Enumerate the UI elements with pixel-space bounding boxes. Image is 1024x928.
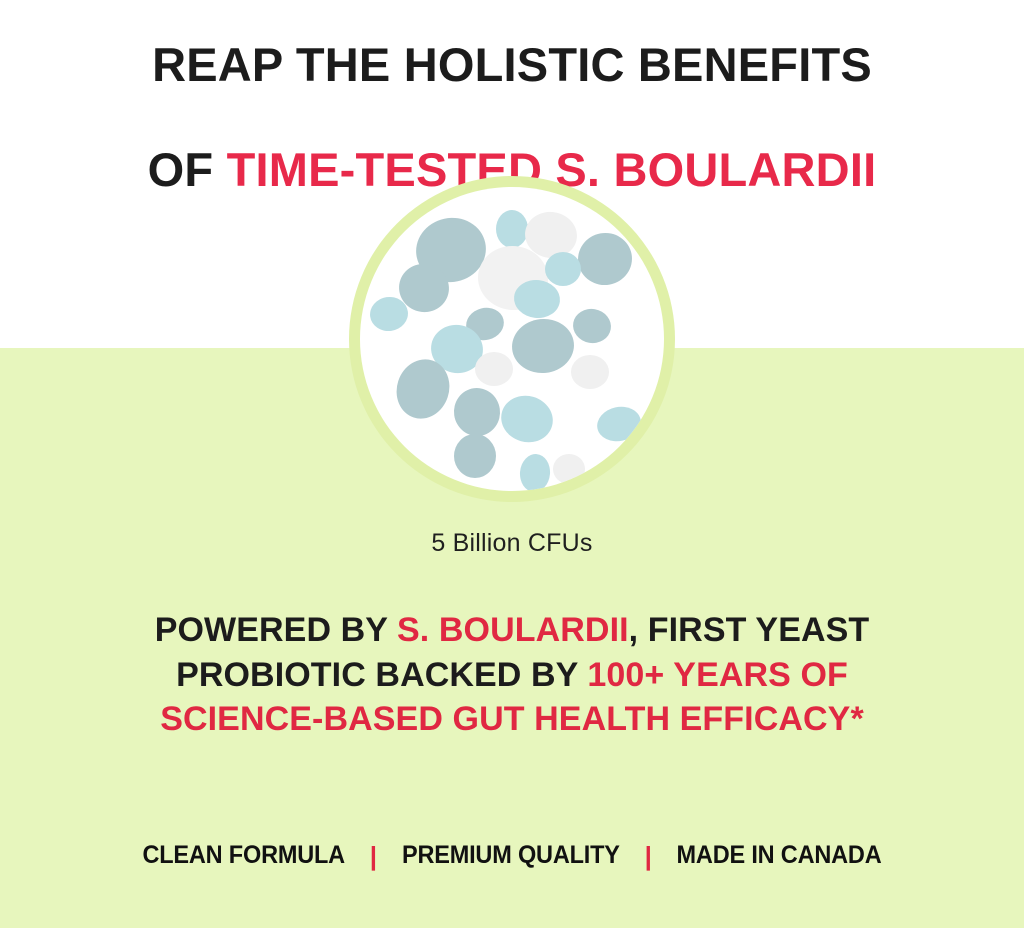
yeast-cell <box>475 352 513 386</box>
trust-badge-bar: CLEAN FORMULA | PREMIUM QUALITY | MADE I… <box>0 841 1024 870</box>
claim-line-1-part-1: POWERED BY <box>155 611 397 649</box>
claim-line-1-accent: S. BOULARDII <box>397 611 629 649</box>
product-infographic: REAP THE HOLISTIC BENEFITS OF TIME-TESTE… <box>0 0 1024 928</box>
probiotic-cell-circle-graphic <box>347 174 677 504</box>
badge-clean-formula: CLEAN FORMULA <box>143 841 346 870</box>
cfu-caption: 5 Billion CFUs <box>0 529 1024 558</box>
badge-made-in-canada: MADE IN CANADA <box>676 841 881 870</box>
headline-line-1: REAP THE HOLISTIC BENEFITS <box>0 39 1024 92</box>
badge-premium-quality: PREMIUM QUALITY <box>402 841 620 870</box>
badge-separator-2: | <box>627 843 670 869</box>
yeast-cell <box>571 355 609 389</box>
product-claim-text: POWERED BY S. BOULARDII, FIRST YEAST PRO… <box>0 608 1024 742</box>
yeast-cell <box>454 434 496 478</box>
claim-line-1: POWERED BY S. BOULARDII, FIRST YEAST <box>0 608 1024 653</box>
badge-separator-1: | <box>352 843 395 869</box>
yeast-cell <box>496 210 528 248</box>
yeast-cell <box>545 252 581 286</box>
claim-line-2: PROBIOTIC BACKED BY 100+ YEARS OF <box>0 653 1024 698</box>
claim-line-1-part-2: , FIRST YEAST <box>629 611 870 649</box>
claim-line-3: SCIENCE-BASED GUT HEALTH EFFICACY* <box>0 697 1024 742</box>
headline-line-2-prefix: OF <box>148 143 227 196</box>
claim-line-2-part-1: PROBIOTIC BACKED BY <box>176 656 587 694</box>
claim-line-2-accent: 100+ YEARS OF <box>587 656 848 694</box>
